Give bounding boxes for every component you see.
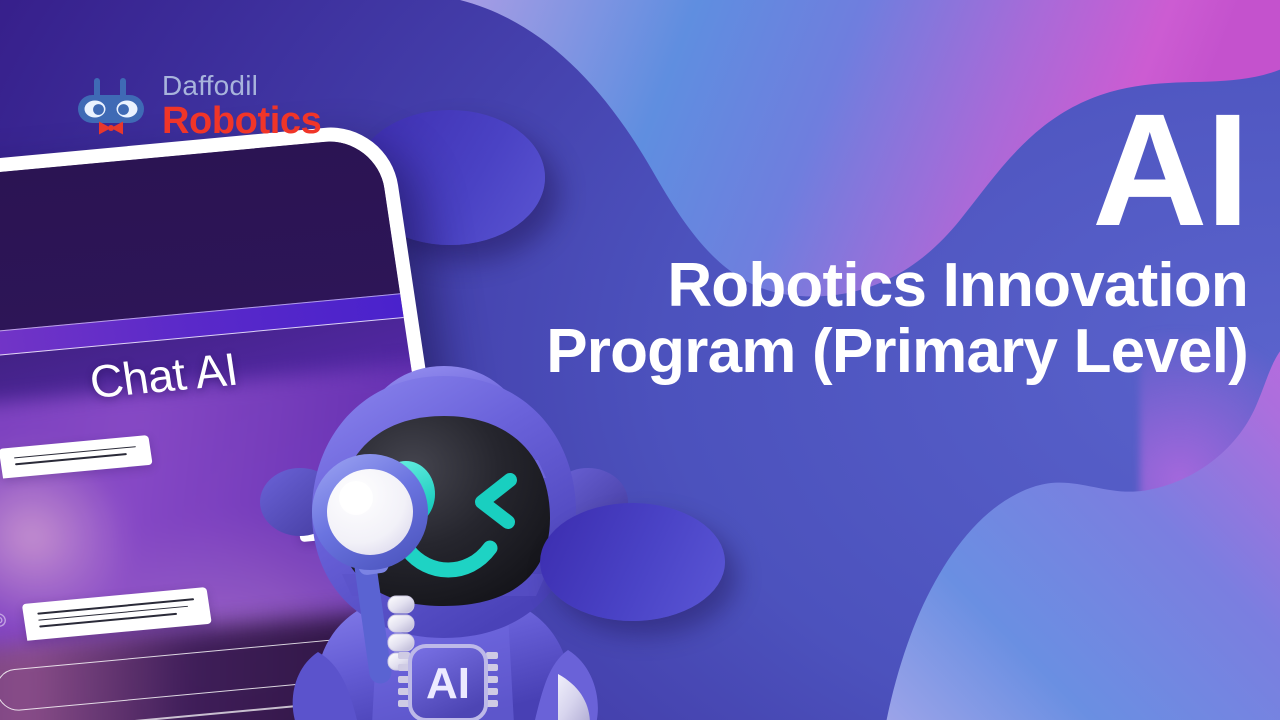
brand-name-top: Daffodil [162,72,321,100]
poster-canvas: Chat AI [0,0,1280,720]
bottom-wave-blob [880,340,1280,720]
page-title-emphasis: AI [518,92,1248,249]
robot-head-icon [74,73,148,139]
page-title-rest: Robotics Innovation Program (Primary Lev… [518,253,1248,384]
decorative-ellipse-mid [540,503,725,621]
brand-name-bottom: Robotics [162,102,321,140]
brand-wordmark: Daffodil Robotics [162,72,321,140]
brand-logo[interactable]: Daffodil Robotics [74,72,321,140]
robot-avatar-icon [0,606,13,634]
svg-text:AI: AI [426,659,470,708]
page-title: AI Robotics Innovation Program (Primary … [518,92,1248,384]
